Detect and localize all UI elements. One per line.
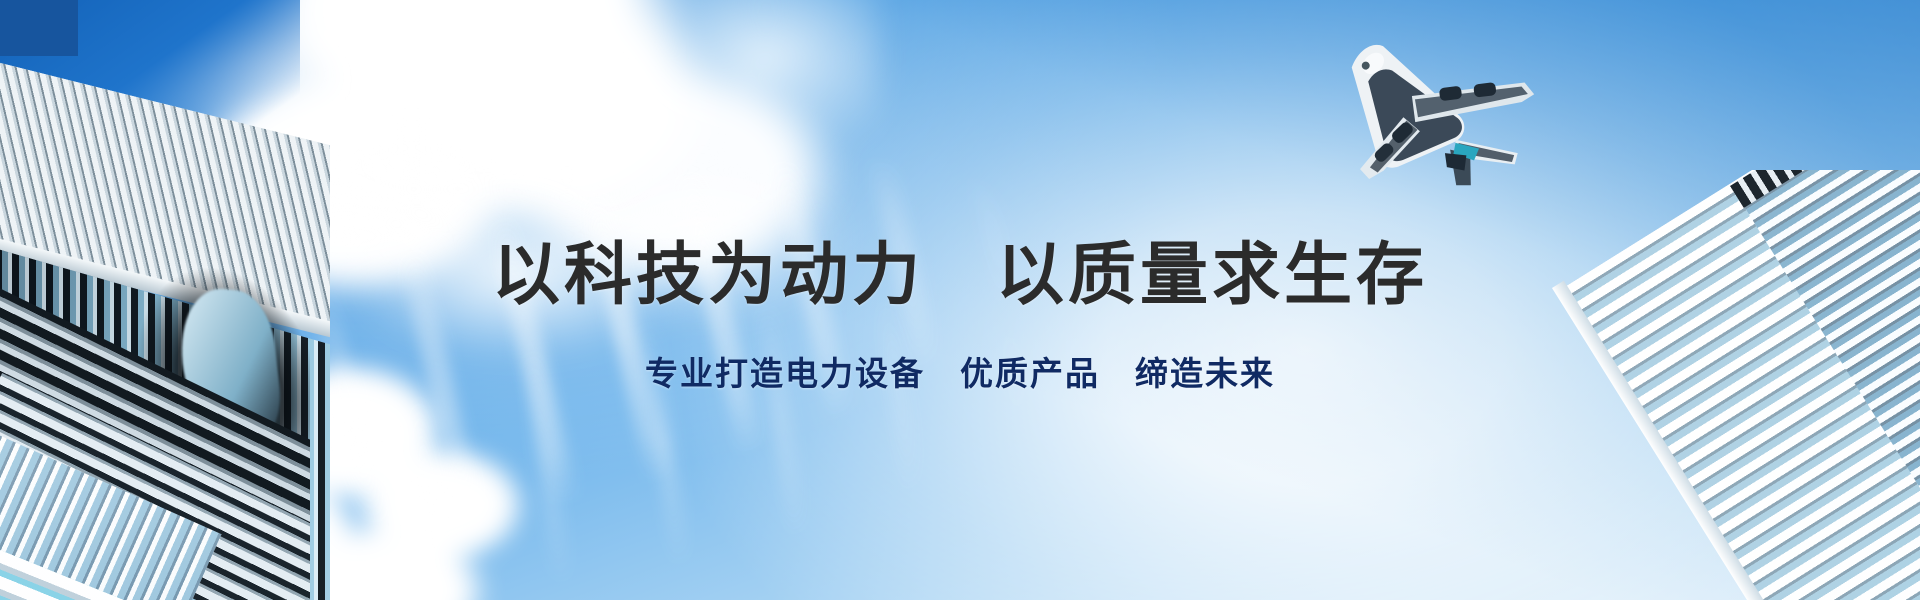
hero-banner: 以科技为动力 以质量求生存 专业打造电力设备 优质产品 缔造未来 (0, 0, 1920, 600)
airplane-icon (1305, 4, 1565, 204)
building-lower-left-tower (0, 250, 310, 600)
building-right-tower (1500, 170, 1920, 600)
